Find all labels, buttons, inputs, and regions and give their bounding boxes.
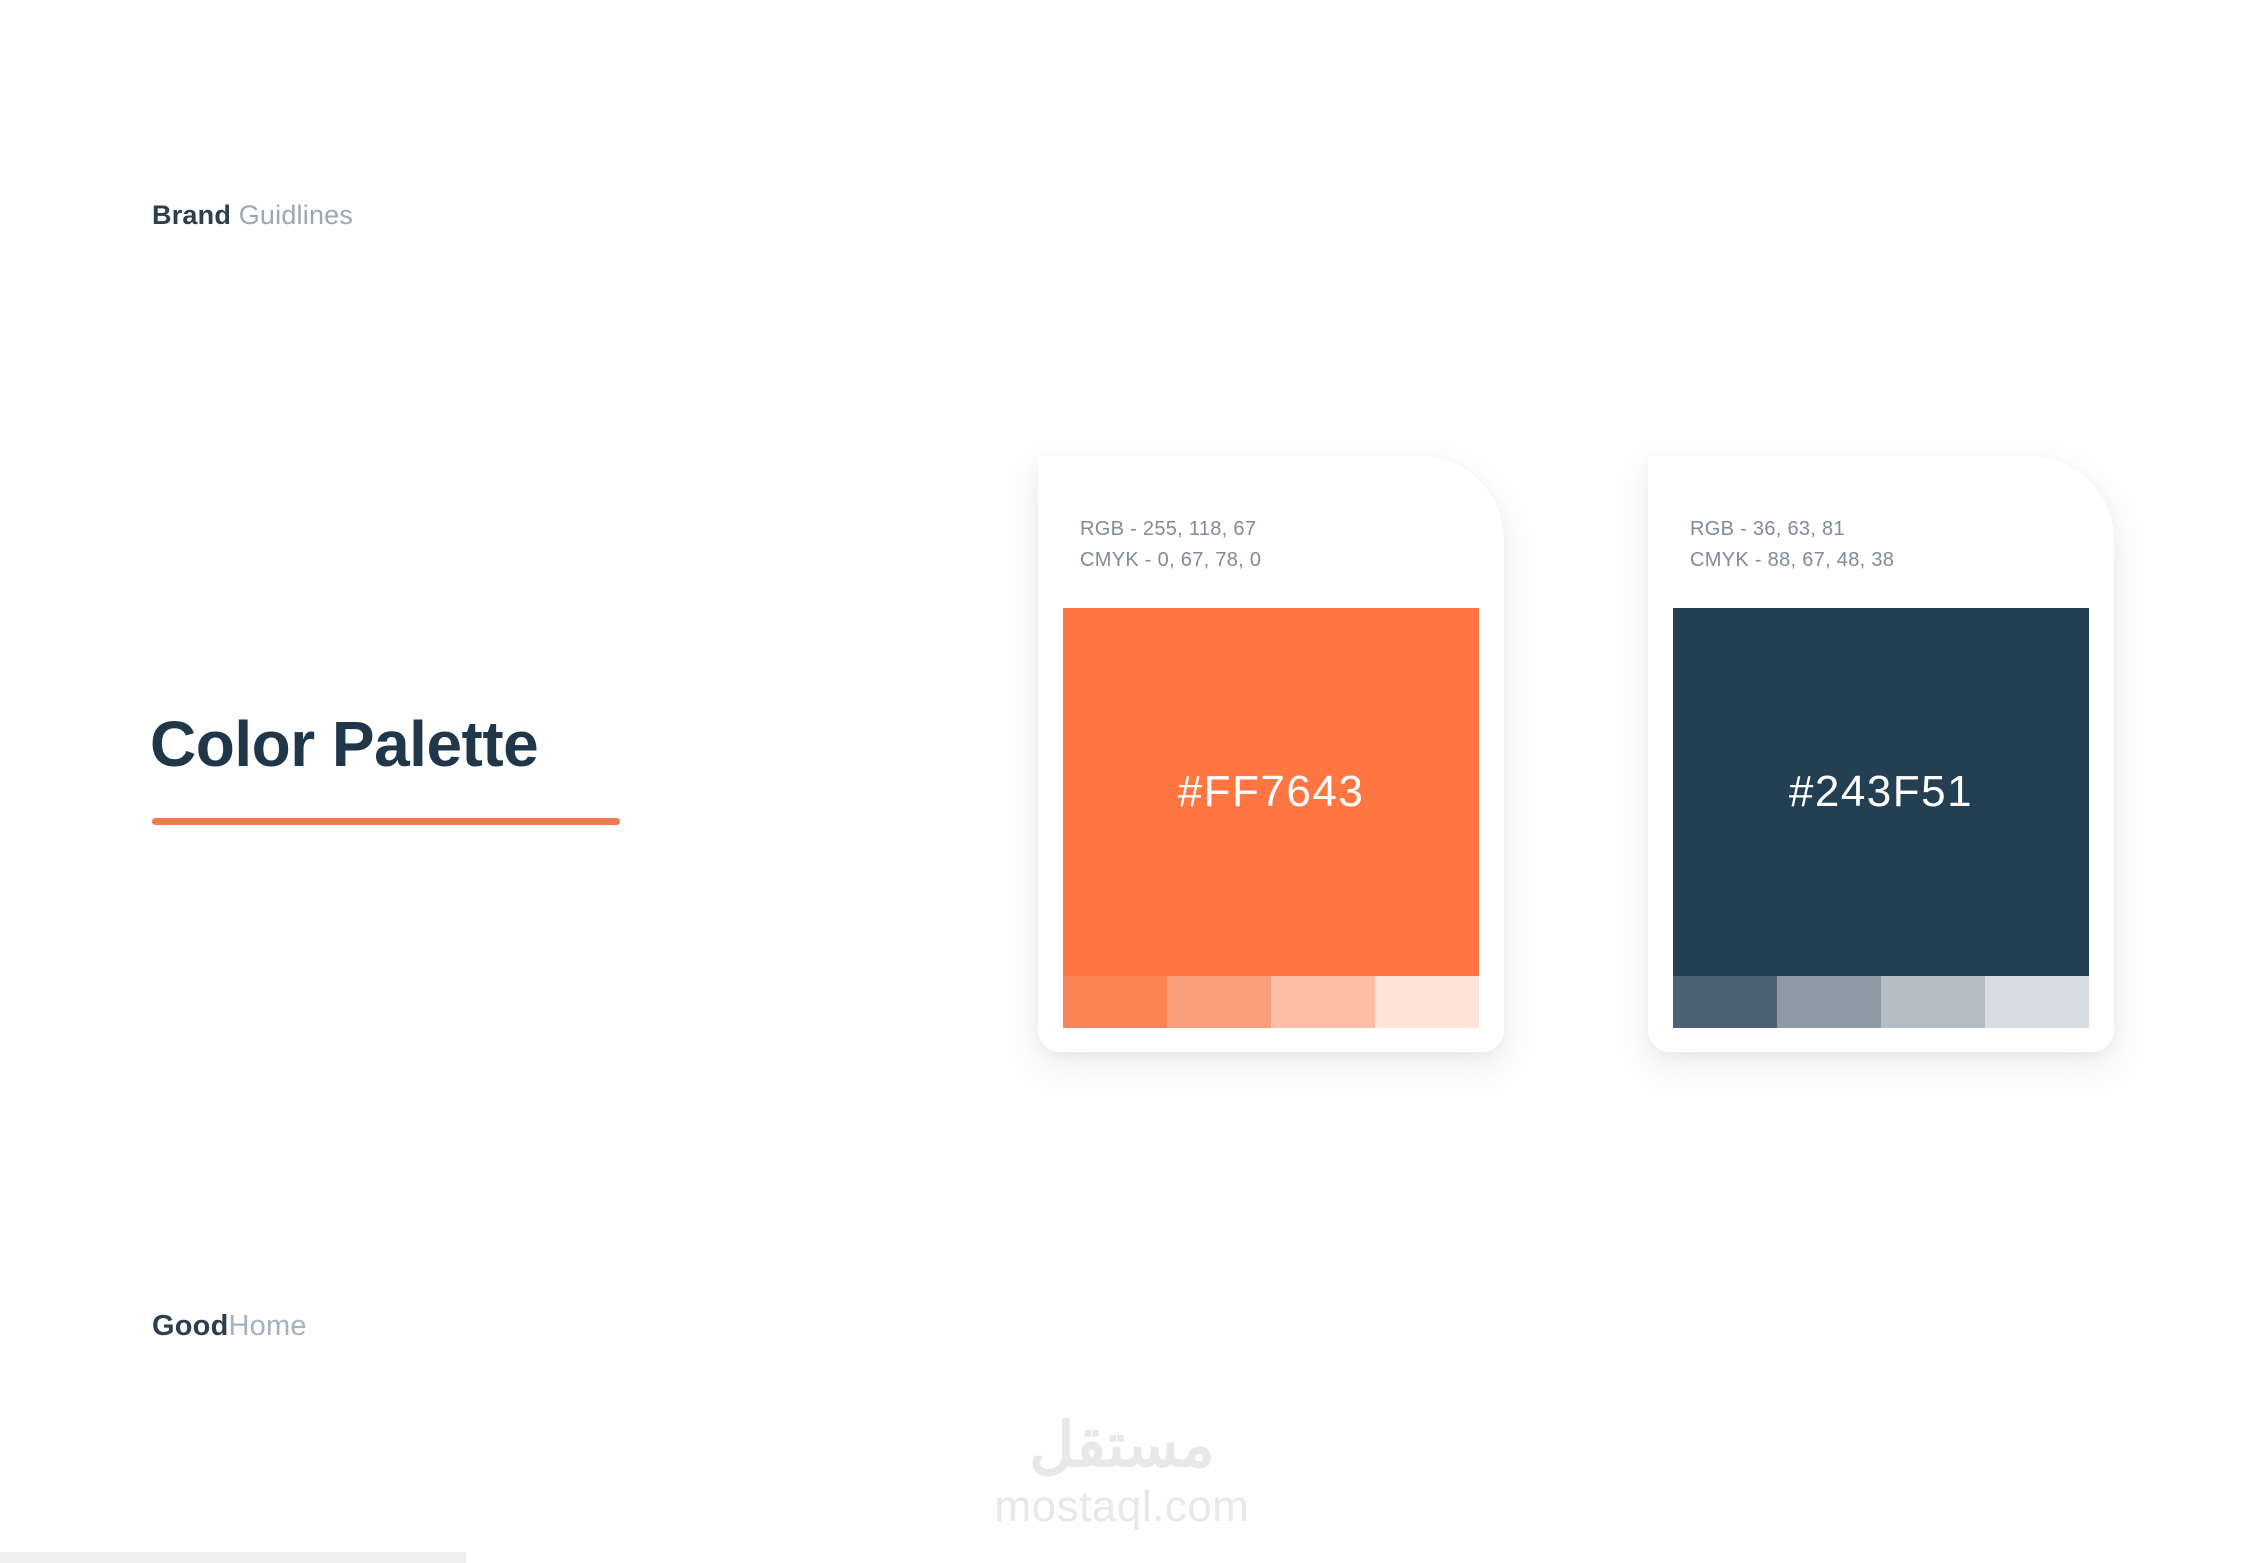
card-secondary-cmyk-label: CMYK - 88, 67, 48, 38 (1690, 545, 1894, 576)
page-title: Color Palette (150, 712, 538, 776)
card-secondary-color-block: #243F51 (1673, 608, 2089, 976)
slide-canvas: Brand Guidlines Color Palette GoodHome R… (0, 0, 2244, 1563)
logo-bold-text: Good (152, 1310, 229, 1342)
secondary-navy-tint-2 (1777, 976, 1881, 1028)
primary-orange-tint-2 (1167, 976, 1271, 1028)
secondary-navy-tint-3 (1881, 976, 1985, 1028)
card-primary-rgb-label: RGB - 255, 118, 67 (1080, 514, 1261, 545)
primary-orange-tint-3 (1271, 976, 1375, 1028)
watermark-domain-text: mostaql.com (0, 1485, 2244, 1529)
card-primary-hex-label: #FF7643 (1178, 770, 1365, 814)
card-primary-color-block: #FF7643 (1063, 608, 1479, 976)
card-secondary-tint-strip (1673, 976, 2089, 1028)
color-swatch-card-primary[interactable]: RGB - 255, 118, 67 CMYK - 0, 67, 78, 0 #… (1038, 456, 1504, 1052)
title-underline-rule (152, 818, 620, 825)
secondary-navy-tint-1 (1673, 976, 1777, 1028)
eyebrow-light-text: Guidlines (239, 200, 353, 230)
card-secondary-hex-label: #243F51 (1789, 770, 1973, 814)
eyebrow-bold-text: Brand (152, 200, 239, 230)
goodhome-logo: GoodHome (152, 1312, 307, 1341)
card-secondary-meta: RGB - 36, 63, 81 CMYK - 88, 67, 48, 38 (1690, 514, 1894, 576)
mostaql-watermark: مستقل mostaql.com (0, 1415, 2244, 1529)
primary-orange-tint-4 (1375, 976, 1479, 1028)
logo-light-text: Home (229, 1310, 307, 1342)
card-primary-tint-strip (1063, 976, 1479, 1028)
brand-guidelines-eyebrow: Brand Guidlines (152, 202, 353, 229)
color-swatch-card-secondary[interactable]: RGB - 36, 63, 81 CMYK - 88, 67, 48, 38 #… (1648, 456, 2114, 1052)
card-secondary-rgb-label: RGB - 36, 63, 81 (1690, 514, 1894, 545)
bottom-edge-rule (0, 1552, 466, 1563)
watermark-arabic-text: مستقل (0, 1415, 2244, 1477)
card-primary-meta: RGB - 255, 118, 67 CMYK - 0, 67, 78, 0 (1080, 514, 1261, 576)
secondary-navy-tint-4 (1985, 976, 2089, 1028)
primary-orange-tint-1 (1063, 976, 1167, 1028)
card-primary-cmyk-label: CMYK - 0, 67, 78, 0 (1080, 545, 1261, 576)
